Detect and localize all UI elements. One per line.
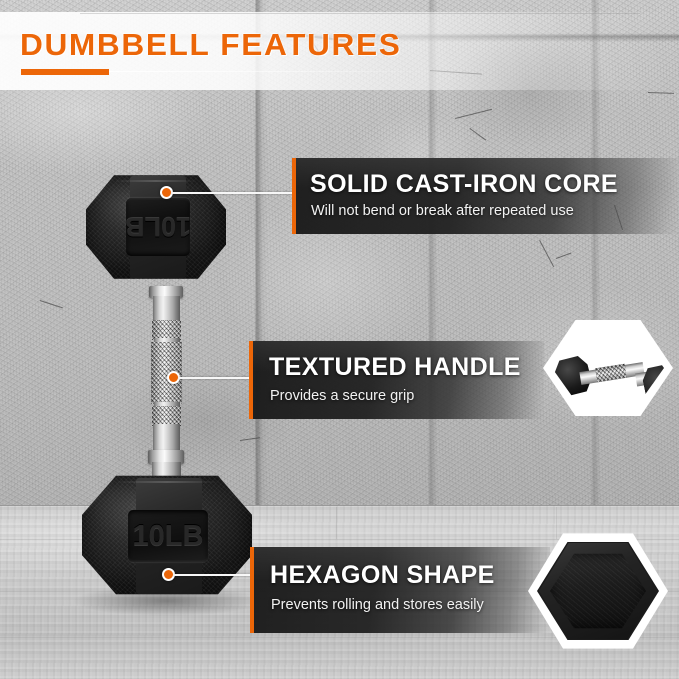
weight-plate-top: 10LB [126,198,190,256]
callout-panel-core: SOLID CAST-IRON CORE Will not bend or br… [292,158,679,234]
product-feature-infographic: DUMBBELL FEATURES 10LB [0,0,679,679]
weight-plate-bottom: 10LB [128,510,208,562]
callout-subtitle-hexagon: Prevents rolling and stores easily [271,597,484,613]
weight-label-top: 10LB [125,212,191,243]
callout-panel-hexagon: HEXAGON SHAPE Prevents rolling and store… [250,547,550,633]
leader-line-handle [179,377,251,379]
callout-accent-bar-hexagon [250,547,254,633]
weight-label-bottom: 10LB [133,520,204,553]
title-underline-thin [109,71,439,72]
callout-title-handle: TEXTURED HANDLE [269,353,521,382]
leader-line-core [172,192,294,194]
callout-background-hexagon [250,547,550,633]
inset-photo-hexagon-closeup [537,540,659,642]
handle-knurl-upper [152,320,181,340]
title-underline-bar [21,69,109,75]
callout-panel-handle: TEXTURED HANDLE Provides a secure grip [249,341,544,419]
callout-subtitle-core: Will not bend or break after repeated us… [311,203,574,219]
handle-shaft-upper [153,296,180,322]
callout-accent-bar-handle [249,341,253,419]
handle-stub-bottom [152,462,181,478]
callout-title-hexagon: HEXAGON SHAPE [270,561,495,590]
inset-photo-handle-closeup [552,327,664,409]
callout-title-core: SOLID CAST-IRON CORE [310,170,618,199]
handle-shaft-lower [153,424,180,452]
handle-knurl-lower [152,406,181,426]
page-title: DUMBBELL FEATURES [20,27,401,63]
callout-accent-bar-core [292,158,296,234]
mini-dumbbell-horizontal [552,327,664,409]
header-hairline [80,13,640,14]
mini-handle-knurl [595,364,627,383]
callout-subtitle-handle: Provides a secure grip [270,388,414,404]
leader-line-hexagon [174,574,252,576]
hex-weight-head-top: 10LB [86,172,226,282]
